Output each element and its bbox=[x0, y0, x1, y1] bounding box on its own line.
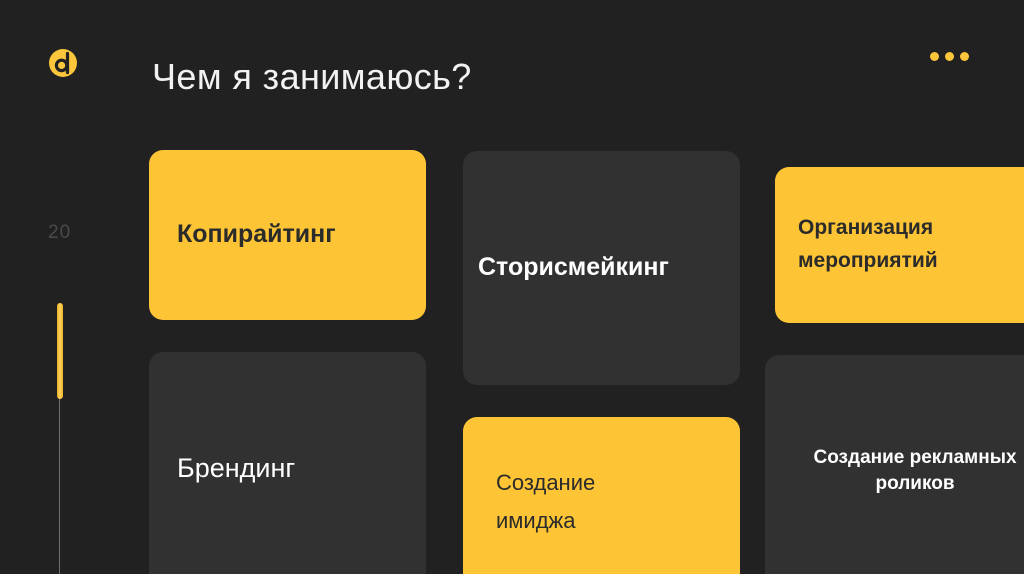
progress-rail-thumb[interactable] bbox=[57, 303, 63, 399]
card-branding[interactable]: Брендинг bbox=[149, 352, 426, 574]
menu-dot bbox=[960, 52, 969, 61]
card-label: Организация мероприятий bbox=[798, 212, 1024, 277]
card-label: Создание рекламных роликов bbox=[813, 445, 1016, 496]
menu-dot bbox=[930, 52, 939, 61]
card-label: Копирайтинг bbox=[177, 219, 398, 250]
menu-dot bbox=[945, 52, 954, 61]
presentation-slide: Чем я занимаюсь? 20 Копирайтинг Сторисме… bbox=[0, 0, 1024, 574]
card-copywriting[interactable]: Копирайтинг bbox=[149, 150, 426, 320]
card-label: Брендинг bbox=[177, 452, 398, 486]
card-label: Создание имиджа bbox=[496, 464, 707, 541]
card-label: Сторисмейкинг bbox=[478, 252, 725, 283]
card-storymaking[interactable]: Сторисмейкинг bbox=[463, 151, 740, 385]
page-title: Чем я занимаюсь? bbox=[152, 56, 472, 98]
ellipsis-menu-icon[interactable] bbox=[930, 52, 969, 61]
card-image-creation[interactable]: Создание имиджа bbox=[463, 417, 740, 574]
brand-d-logo-icon[interactable] bbox=[48, 48, 78, 78]
card-ad-reels[interactable]: Создание рекламных роликов bbox=[765, 355, 1024, 574]
slide-number: 20 bbox=[48, 222, 71, 244]
card-events[interactable]: Организация мероприятий bbox=[775, 167, 1024, 323]
